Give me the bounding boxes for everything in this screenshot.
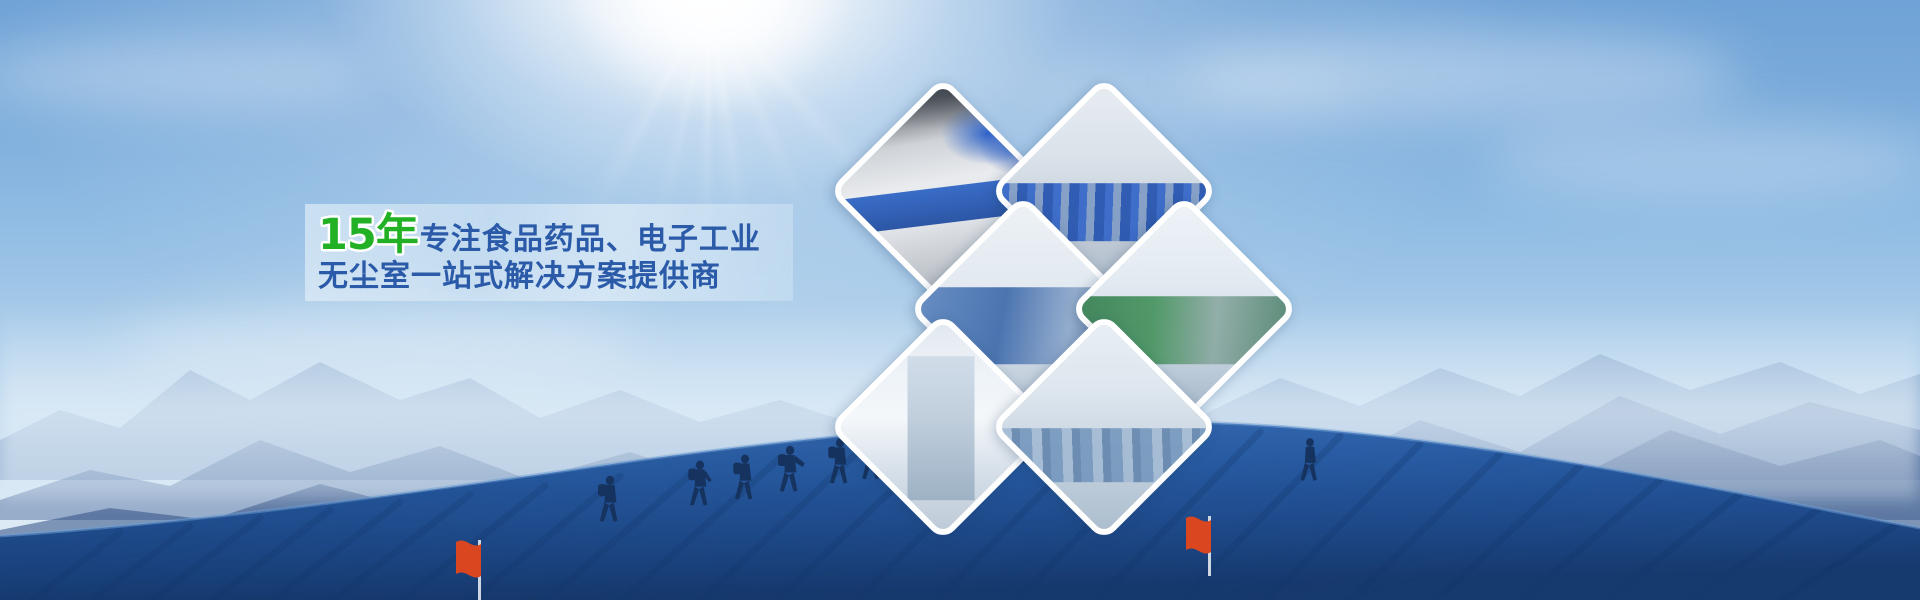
hero-banner: 15年 专注食品药品、电子工业 无尘室一站式解决方案提供商 bbox=[0, 0, 1920, 600]
headline-line-2: 无尘室一站式解决方案提供商 bbox=[318, 261, 788, 293]
photo-collage bbox=[840, 88, 1280, 460]
cloud-wisp bbox=[1480, 120, 1920, 200]
headline-block: 15年 专注食品药品、电子工业 无尘室一站式解决方案提供商 bbox=[318, 205, 788, 301]
years-badge: 15年 bbox=[318, 213, 418, 259]
headline-line-1: 15年 专注食品药品、电子工业 bbox=[318, 213, 788, 259]
headline-line-1-rest: 专注食品药品、电子工业 bbox=[420, 224, 761, 256]
